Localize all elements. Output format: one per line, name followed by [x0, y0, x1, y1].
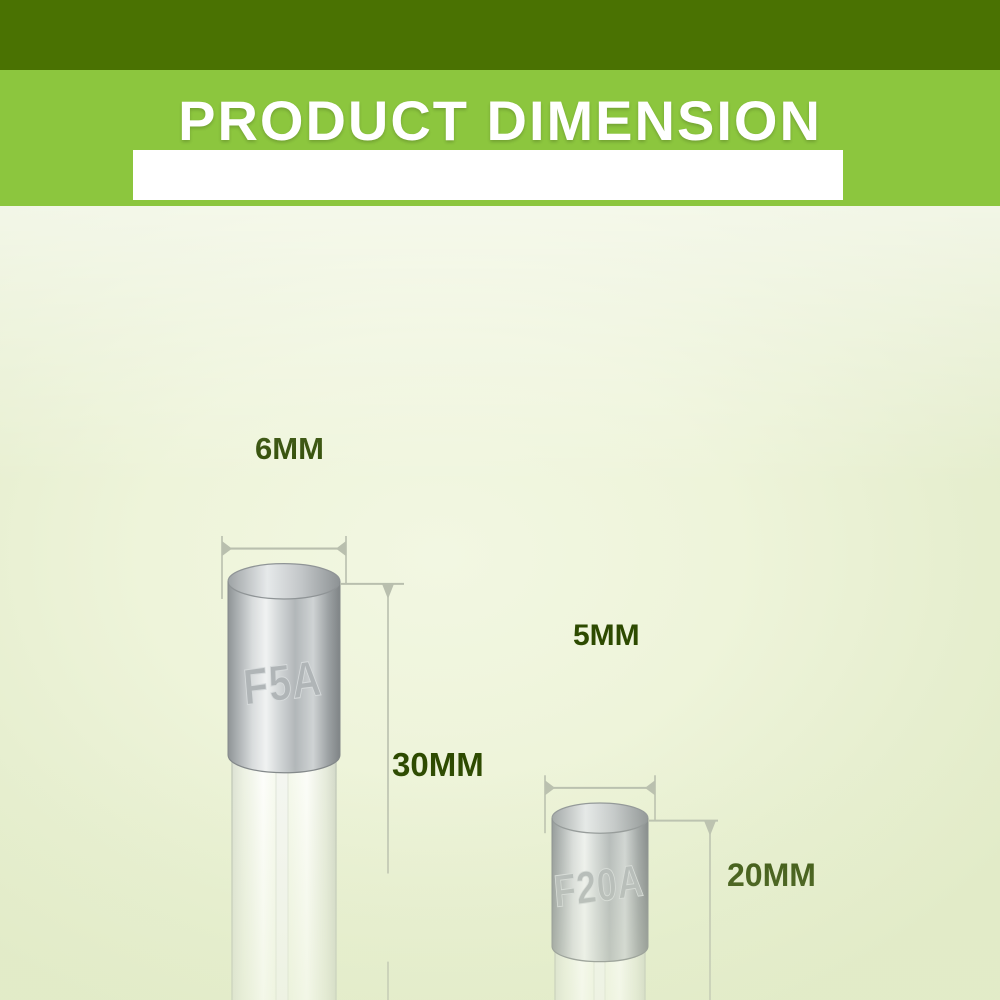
product-dimension-page: PRODUCT DIMENSION	[0, 0, 1000, 1000]
fuse-diagram-svg: F5A	[0, 206, 1000, 1000]
dimension-label-20mm: 20MM	[727, 857, 816, 894]
page-title: PRODUCT DIMENSION	[0, 88, 1000, 153]
fuse-5x20-group: F20A	[545, 775, 718, 1000]
dimension-label-30mm: 30MM	[392, 746, 484, 784]
fuse-6x30-group: F5A	[222, 536, 404, 1000]
title-underline-bar	[133, 150, 843, 200]
fuse-6x30-top-cap: F5A	[228, 564, 340, 773]
fuse-5x20-top-cap: F20A	[552, 803, 648, 962]
dimension-label-6mm: 6MM	[255, 431, 324, 467]
diagram-stage: F5A	[0, 206, 1000, 1000]
header-top-bar	[0, 0, 1000, 70]
fuse-5x20-height-dimension	[648, 821, 718, 1000]
dimension-label-5mm: 5MM	[573, 619, 640, 653]
fuse-6x30-height-dimension	[340, 584, 404, 1000]
fuse-6x30-cap-rating-text: F5A	[241, 649, 324, 716]
